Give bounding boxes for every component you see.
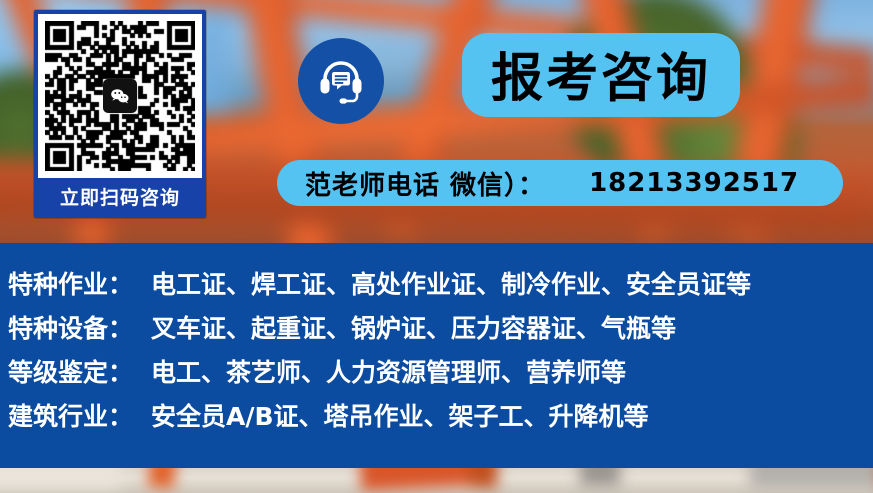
contact-label: 范老师电话 微信）：	[305, 165, 545, 202]
certificate-list-band: 特种作业： 电工证、焊工证、高处作业证、制冷作业、安全员证等 特种设备： 叉车证…	[0, 243, 873, 468]
ground	[750, 468, 873, 488]
title-pill-label: 报考咨询	[491, 36, 711, 111]
contact-pill[interactable]: 范老师电话 微信）： 18213392517	[277, 160, 843, 206]
info-row-grade-assessment: 等级鉴定： 电工、茶艺师、人力资源管理师、营养师等	[8, 351, 873, 395]
orange-post	[147, 468, 178, 489]
info-row-special-operations: 特种作业： 电工证、焊工证、高处作业证、制冷作业、安全员证等	[8, 263, 873, 307]
qr-code-panel[interactable]: 立即扫码咨询	[34, 10, 206, 218]
info-row-value: 电工证、焊工证、高处作业证、制冷作业、安全员证等	[151, 263, 751, 307]
orange-post	[359, 468, 481, 491]
info-row-label: 特种设备：	[8, 307, 133, 351]
info-row-construction-industry: 建筑行业： 安全员A/B证、塔吊作业、架子工、升降机等	[8, 395, 873, 439]
photo-blur-layer-bottom	[0, 468, 873, 493]
ground	[0, 468, 120, 488]
qr-caption: 立即扫码咨询	[38, 178, 202, 214]
contact-phone-number[interactable]: 18213392517	[589, 168, 799, 198]
title-pill[interactable]: 报考咨询	[462, 33, 740, 117]
promo-poster: 立即扫码咨询 报考咨询 范老师电话 微信）： 18213392517 特种作业：…	[0, 0, 873, 493]
info-row-label: 建筑行业：	[8, 395, 133, 439]
qr-code-image[interactable]	[38, 14, 202, 178]
info-row-label: 特种作业：	[8, 263, 133, 307]
info-row-value: 安全员A/B证、塔吊作业、架子工、升降机等	[151, 395, 649, 439]
info-row-value: 电工、茶艺师、人力资源管理师、营养师等	[151, 351, 626, 395]
info-row-label: 等级鉴定：	[8, 351, 133, 395]
headset-support-icon	[298, 38, 384, 124]
info-row-special-equipment: 特种设备： 叉车证、起重证、锅炉证、压力容器证、气瓶等	[8, 307, 873, 351]
grey-post	[580, 468, 620, 486]
background-photo-bottom	[0, 468, 873, 493]
info-row-value: 叉车证、起重证、锅炉证、压力容器证、气瓶等	[151, 307, 676, 351]
orange-post	[468, 468, 499, 489]
wechat-icon	[103, 79, 137, 113]
